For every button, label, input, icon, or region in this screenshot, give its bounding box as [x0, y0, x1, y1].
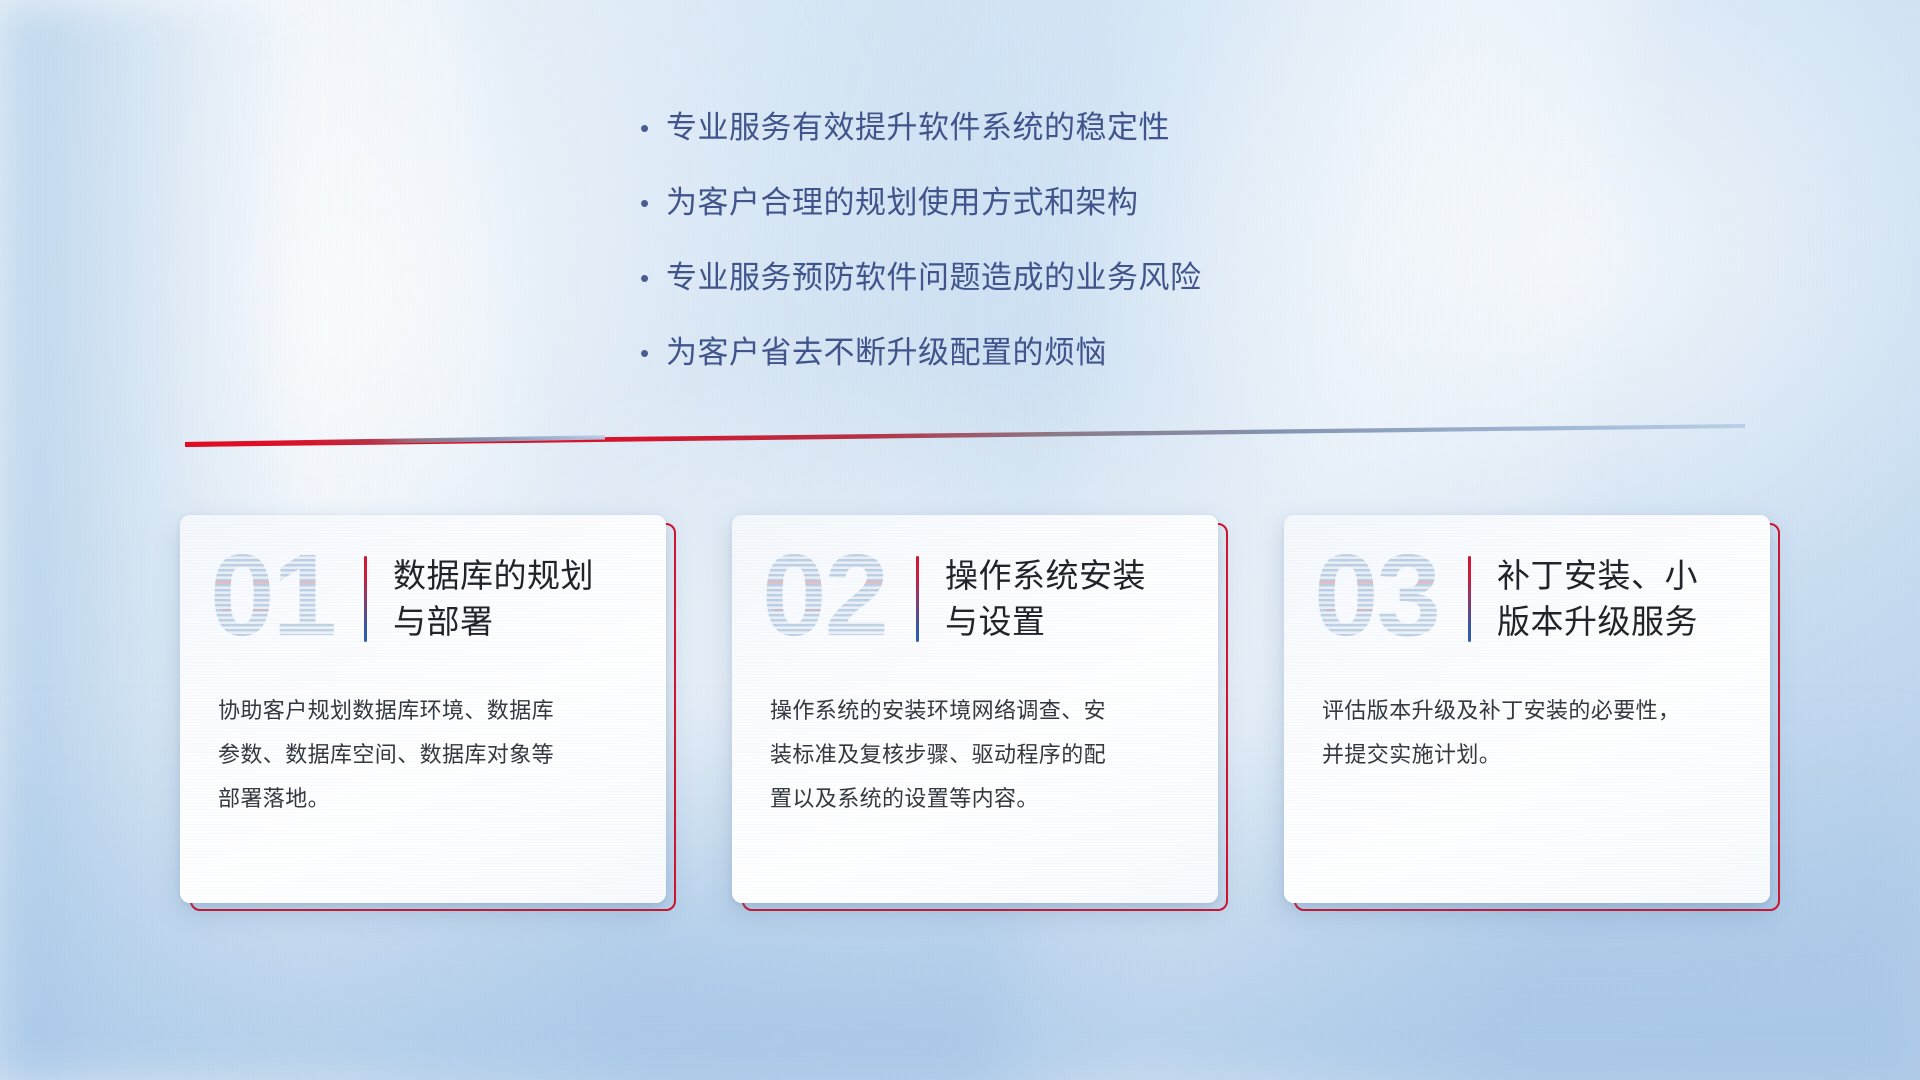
- service-card-list: 01 数据库的规划 与部署 协助客户规划数据库环境、数据库 参数、数据库: [180, 515, 1780, 925]
- bullet-text: 专业服务有效提升软件系统的稳定性: [666, 105, 1170, 151]
- list-item: • 为客户合理的规划使用方式和架构: [640, 180, 1420, 226]
- card-number-watermark: 02: [760, 539, 910, 659]
- card-number-watermark: 03: [1312, 539, 1462, 659]
- title-accent-bar: [1468, 556, 1471, 642]
- service-card[interactable]: 01 数据库的规划 与部署 协助客户规划数据库环境、数据库 参数、数据库: [180, 515, 676, 911]
- section-divider: [185, 418, 1745, 452]
- bullet-text: 专业服务预防软件问题造成的业务风险: [666, 255, 1202, 301]
- card-description: 协助客户规划数据库环境、数据库 参数、数据库空间、数据库对象等 部署落地。: [180, 689, 666, 821]
- benefits-bullet-list: • 专业服务有效提升软件系统的稳定性 • 为客户合理的规划使用方式和架构 • 专…: [640, 105, 1420, 405]
- striped-number-icon: 01: [208, 539, 358, 659]
- bullet-marker-icon: •: [640, 105, 666, 151]
- bullet-text: 为客户合理的规划使用方式和架构: [666, 180, 1139, 226]
- list-item: • 专业服务预防软件问题造成的业务风险: [640, 255, 1420, 301]
- striped-number-icon: 03: [1312, 539, 1462, 659]
- bullet-text: 为客户省去不断升级配置的烦恼: [666, 330, 1107, 376]
- card-surface: 02 操作系统安装 与设置 操作系统的安装环境网络调查、安 装标准及复核: [732, 515, 1218, 903]
- striped-number-icon: 02: [760, 539, 910, 659]
- bullet-marker-icon: •: [640, 180, 666, 226]
- title-accent-bar: [916, 556, 919, 642]
- service-card[interactable]: 03 补丁安装、小 版本升级服务 评估版本升级及补丁安装的必要性， 并提: [1284, 515, 1780, 911]
- card-header: 01 数据库的规划 与部署: [180, 515, 666, 683]
- card-title: 操作系统安装 与设置: [945, 553, 1146, 645]
- card-description: 评估版本升级及补丁安装的必要性， 并提交实施计划。: [1284, 689, 1770, 777]
- list-item: • 为客户省去不断升级配置的烦恼: [640, 330, 1420, 376]
- card-title: 补丁安装、小 版本升级服务: [1497, 553, 1698, 645]
- card-description: 操作系统的安装环境网络调查、安 装标准及复核步骤、驱动程序的配 置以及系统的设置…: [732, 689, 1218, 821]
- list-item: • 专业服务有效提升软件系统的稳定性: [640, 105, 1420, 151]
- service-card[interactable]: 02 操作系统安装 与设置 操作系统的安装环境网络调查、安 装标准及复核: [732, 515, 1228, 911]
- card-surface: 03 补丁安装、小 版本升级服务 评估版本升级及补丁安装的必要性， 并提: [1284, 515, 1770, 903]
- card-header: 03 补丁安装、小 版本升级服务: [1284, 515, 1770, 683]
- title-accent-bar: [364, 556, 367, 642]
- card-header: 02 操作系统安装 与设置: [732, 515, 1218, 683]
- tapered-rule-icon: [185, 418, 1745, 452]
- card-surface: 01 数据库的规划 与部署 协助客户规划数据库环境、数据库 参数、数据库: [180, 515, 666, 903]
- card-title: 数据库的规划 与部署: [393, 553, 594, 645]
- card-number-watermark: 01: [208, 539, 358, 659]
- bullet-marker-icon: •: [640, 330, 666, 376]
- bullet-marker-icon: •: [640, 255, 666, 301]
